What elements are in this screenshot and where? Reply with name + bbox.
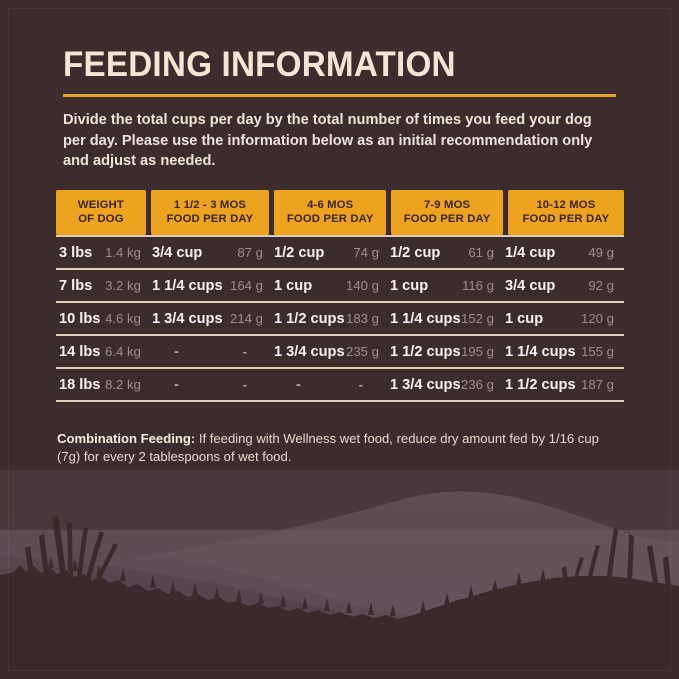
- table-row: 14 lbs6.4 kg--1 3/4 cups235 g1 1/2 cups1…: [56, 336, 624, 367]
- cell-secondary-value: 120 g: [581, 311, 614, 326]
- cell-secondary-value: -: [243, 377, 263, 392]
- cell-dog-weight: 7 lbs3.2 kg: [56, 278, 144, 294]
- cell-secondary-value: 152 g: [461, 311, 494, 326]
- cell-primary-value: -: [152, 377, 179, 393]
- cell-primary-value: 3 lbs: [59, 245, 92, 261]
- cell-food-amount: 1 3/4 cups235 g: [271, 344, 382, 360]
- cell-primary-value: 1/2 cup: [390, 245, 440, 261]
- title-divider: [63, 94, 616, 97]
- cell-food-amount: 3/4 cup92 g: [502, 278, 617, 294]
- cell-secondary-value: 4.6 kg: [105, 311, 141, 326]
- cell-food-amount: 1/2 cup74 g: [271, 245, 382, 261]
- column-header-10-12-mos: 10-12 MOS FOOD PER DAY: [508, 190, 624, 235]
- column-header-line1: 1 1/2 - 3 MOS: [174, 199, 246, 211]
- cell-food-amount: --: [149, 377, 266, 393]
- cell-secondary-value: 140 g: [346, 278, 379, 293]
- column-header-line2: FOOD PER DAY: [153, 213, 267, 227]
- cell-primary-value: 3/4 cup: [152, 245, 202, 261]
- table-header-row: WEIGHT OF DOG 1 1/2 - 3 MOS FOOD PER DAY…: [56, 190, 624, 235]
- table-body: 3 lbs1.4 kg3/4 cup87 g1/2 cup74 g1/2 cup…: [56, 235, 624, 402]
- cell-food-amount: 1 1/2 cups195 g: [387, 344, 497, 360]
- cell-secondary-value: 61 g: [468, 245, 494, 260]
- cell-secondary-value: -: [243, 344, 263, 359]
- cell-primary-value: 14 lbs: [59, 344, 100, 360]
- cell-primary-value: 1/2 cup: [274, 245, 324, 261]
- table-row: 18 lbs8.2 kg----1 3/4 cups236 g1 1/2 cup…: [56, 369, 624, 400]
- column-header-line2: FOOD PER DAY: [276, 213, 384, 227]
- cell-food-amount: 1 cup140 g: [271, 278, 382, 294]
- cell-food-amount: 1 1/4 cups155 g: [502, 344, 617, 360]
- cell-food-amount: 1 1/4 cups164 g: [149, 278, 266, 294]
- intro-text: Divide the total cups per day by the tot…: [63, 110, 603, 172]
- cell-secondary-value: 74 g: [353, 245, 379, 260]
- combination-feeding-label: Combination Feeding:: [57, 431, 195, 446]
- cell-secondary-value: 1.4 kg: [105, 245, 141, 260]
- cell-primary-value: -: [274, 377, 301, 393]
- cell-secondary-value: 116 g: [462, 278, 494, 293]
- combination-feeding-note: Combination Feeding: If feeding with Wel…: [57, 430, 613, 466]
- cell-primary-value: 10 lbs: [59, 311, 100, 327]
- cell-secondary-value: 195 g: [461, 344, 494, 359]
- cell-secondary-value: 6.4 kg: [105, 344, 141, 359]
- column-header-line1: 7-9 MOS: [424, 199, 470, 211]
- cell-primary-value: 1 3/4 cups: [390, 377, 461, 393]
- row-separator: [56, 400, 624, 402]
- cell-primary-value: 1 cup: [390, 278, 428, 294]
- column-header-7-9-mos: 7-9 MOS FOOD PER DAY: [391, 190, 502, 235]
- cell-secondary-value: 235 g: [346, 344, 379, 359]
- cell-primary-value: 1 3/4 cups: [274, 344, 345, 360]
- row-separator: [56, 301, 624, 303]
- cell-food-amount: 1 1/2 cups187 g: [502, 377, 617, 393]
- column-header-4-6-mos: 4-6 MOS FOOD PER DAY: [274, 190, 386, 235]
- cell-food-amount: 1 cup120 g: [502, 311, 617, 327]
- cell-food-amount: 1/2 cup61 g: [387, 245, 497, 261]
- cell-primary-value: 1 1/4 cups: [152, 278, 223, 294]
- column-header-line1: 4-6 MOS: [307, 199, 353, 211]
- row-separator: [56, 334, 624, 336]
- cell-primary-value: 7 lbs: [59, 278, 92, 294]
- cell-primary-value: 1 3/4 cups: [152, 311, 223, 327]
- cell-dog-weight: 10 lbs4.6 kg: [56, 311, 144, 327]
- cell-primary-value: 18 lbs: [59, 377, 100, 393]
- table-row: 3 lbs1.4 kg3/4 cup87 g1/2 cup74 g1/2 cup…: [56, 237, 624, 268]
- cell-secondary-value: 183 g: [346, 311, 379, 326]
- cell-primary-value: -: [152, 344, 179, 360]
- cell-secondary-value: 164 g: [230, 278, 263, 293]
- column-header-line2: OF DOG: [58, 213, 144, 227]
- cell-secondary-value: 155 g: [581, 344, 614, 359]
- cell-primary-value: 1 cup: [274, 278, 312, 294]
- cell-primary-value: 1 1/4 cups: [505, 344, 576, 360]
- cell-secondary-value: 92 g: [588, 278, 614, 293]
- cell-primary-value: 3/4 cup: [505, 278, 555, 294]
- cell-primary-value: 1 1/2 cups: [505, 377, 576, 393]
- cell-secondary-value: 236 g: [461, 377, 494, 392]
- cell-food-amount: 3/4 cup87 g: [149, 245, 266, 261]
- column-header-1-5-to-3-mos: 1 1/2 - 3 MOS FOOD PER DAY: [151, 190, 269, 235]
- cell-food-amount: 1 cup116 g: [387, 278, 497, 294]
- cell-secondary-value: 49 g: [588, 245, 614, 260]
- cell-food-amount: 1 3/4 cups214 g: [149, 311, 266, 327]
- column-header-line1: WEIGHT: [78, 199, 124, 211]
- feeding-information-card: FEEDING INFORMATION Divide the total cup…: [0, 0, 679, 679]
- cell-secondary-value: -: [359, 377, 379, 392]
- column-header-line2: FOOD PER DAY: [510, 213, 622, 227]
- cell-primary-value: 1 1/2 cups: [274, 311, 345, 327]
- cell-dog-weight: 14 lbs6.4 kg: [56, 344, 144, 360]
- row-separator: [56, 268, 624, 270]
- cell-food-amount: 1/4 cup49 g: [502, 245, 617, 261]
- column-header-line1: 10-12 MOS: [536, 199, 595, 211]
- row-separator: [56, 235, 624, 237]
- column-header-line2: FOOD PER DAY: [393, 213, 500, 227]
- cell-secondary-value: 187 g: [581, 377, 614, 392]
- cell-food-amount: 1 1/2 cups183 g: [271, 311, 382, 327]
- cell-dog-weight: 18 lbs8.2 kg: [56, 377, 144, 393]
- feeding-table: WEIGHT OF DOG 1 1/2 - 3 MOS FOOD PER DAY…: [56, 190, 624, 402]
- cell-primary-value: 1 cup: [505, 311, 543, 327]
- column-header-weight: WEIGHT OF DOG: [56, 190, 146, 235]
- page-title: FEEDING INFORMATION: [63, 45, 456, 85]
- cell-food-amount: --: [271, 377, 382, 393]
- table-row: 7 lbs3.2 kg1 1/4 cups164 g1 cup140 g1 cu…: [56, 270, 624, 301]
- cell-secondary-value: 3.2 kg: [105, 278, 141, 293]
- cell-secondary-value: 214 g: [230, 311, 263, 326]
- cell-primary-value: 1/4 cup: [505, 245, 555, 261]
- table-row: 10 lbs4.6 kg1 3/4 cups214 g1 1/2 cups183…: [56, 303, 624, 334]
- cell-secondary-value: 8.2 kg: [105, 377, 141, 392]
- cell-secondary-value: 87 g: [237, 245, 263, 260]
- row-separator: [56, 367, 624, 369]
- cell-primary-value: 1 1/2 cups: [390, 344, 461, 360]
- cell-food-amount: 1 3/4 cups236 g: [387, 377, 497, 393]
- cell-dog-weight: 3 lbs1.4 kg: [56, 245, 144, 261]
- cell-food-amount: --: [149, 344, 266, 360]
- cell-food-amount: 1 1/4 cups152 g: [387, 311, 497, 327]
- cell-primary-value: 1 1/4 cups: [390, 311, 461, 327]
